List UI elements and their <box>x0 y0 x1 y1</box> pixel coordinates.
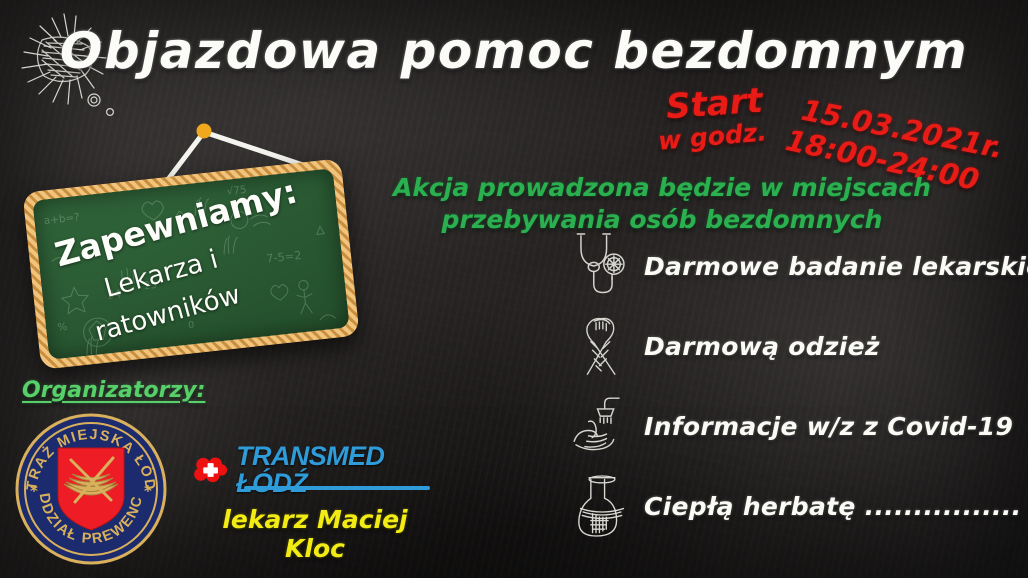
page-title: Objazdowa pomoc bezdomnym <box>0 22 1028 80</box>
board-surface: a+b=? √75 7-5=2 34 25 % 0 <box>32 168 350 360</box>
poster-canvas: Objazdowa pomoc bezdomnym Start w godz. … <box>0 0 1028 578</box>
feature-label: Informacje w/z z Covid-19 <box>644 412 1013 441</box>
feature-item: Darmowe badanie lekarskie <box>560 226 1028 306</box>
stethoscope-icon <box>560 226 644 306</box>
doctor-name: lekarz Maciej Kloc <box>190 505 440 563</box>
flask-icon <box>560 466 644 546</box>
svg-text:*: * <box>144 482 152 500</box>
transmed-cross-cloud-icon <box>192 452 230 488</box>
hanging-chalkboard: a+b=? √75 7-5=2 34 25 % 0 <box>18 118 438 373</box>
transmed-underline <box>244 486 430 490</box>
feature-label: Darmowe badanie lekarskie <box>644 252 1028 281</box>
feature-item: Ciepłą herbatę ................ <box>560 466 1028 546</box>
board-frame: a+b=? √75 7-5=2 34 25 % 0 <box>22 158 359 370</box>
feature-item: Informacje w/z z Covid-19 <box>560 386 1028 466</box>
straz-miejska-lodz-badge: STRAŻ MIEJSKA ŁÓDŹ ODDZIAŁ PREWENCJI * * <box>14 412 168 566</box>
svg-text:*: * <box>30 482 38 500</box>
handwashing-icon <box>560 386 644 466</box>
feature-list: Darmowe badanie lekarskie Darmową odzież <box>560 226 1028 546</box>
board-pin-icon <box>197 124 212 139</box>
feature-label: Darmową odzież <box>644 332 880 361</box>
feature-label: Ciepłą herbatę ................ <box>644 492 1021 521</box>
subtitle-line-1: Akcja prowadzona będzie w miejscach <box>392 172 932 204</box>
organizers-label: Organizatorzy: <box>22 378 205 403</box>
awareness-ribbon-icon <box>560 306 644 386</box>
feature-item: Darmową odzież <box>560 306 1028 386</box>
board-text: Zapewniamy: Lekarza i ratowników <box>32 168 350 360</box>
transmed-logo: TRANSMED ŁÓDŹ <box>192 448 432 492</box>
